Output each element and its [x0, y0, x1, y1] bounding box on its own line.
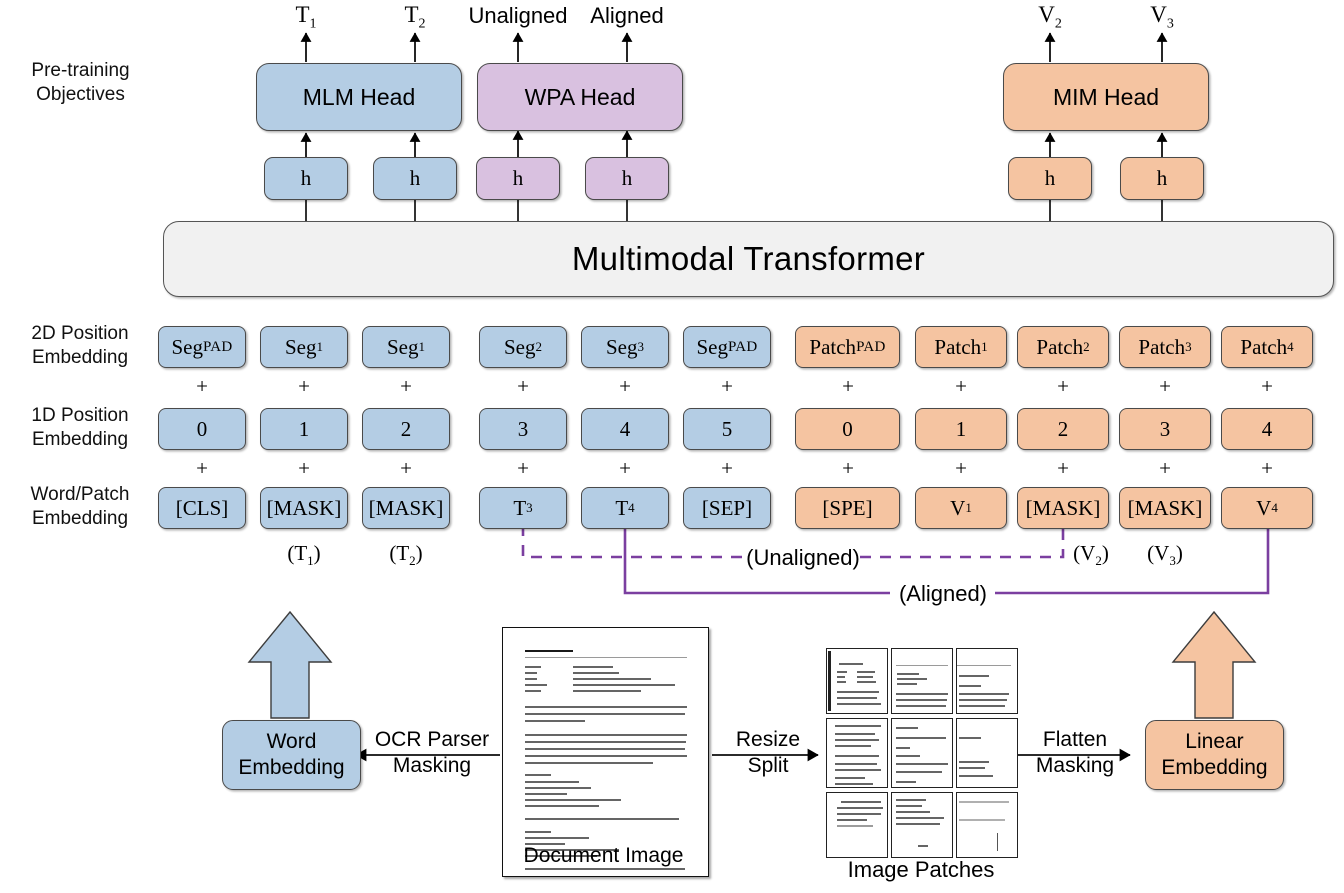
pos1d-embedding-10[interactable]: 4 — [1221, 408, 1313, 450]
image-patch-6[interactable] — [826, 792, 888, 858]
token-embedding-9[interactable]: [MASK] — [1119, 487, 1211, 529]
seg-embedding-4[interactable]: Seg3 — [581, 326, 669, 368]
image-patch-4[interactable] — [891, 718, 953, 788]
pos1d-embedding-7[interactable]: 1 — [915, 408, 1007, 450]
token-embedding-1[interactable]: [MASK] — [260, 487, 348, 529]
plus-2-5: + — [712, 456, 742, 481]
plus-2-0: + — [187, 456, 217, 481]
token-embedding-8[interactable]: [MASK] — [1017, 487, 1109, 529]
hidden-state-h-1[interactable]: h — [264, 157, 348, 200]
linear-embedding-box[interactable]: Linear Embedding — [1145, 720, 1284, 790]
plus-2-7: + — [946, 456, 976, 481]
patch-embedding-2[interactable]: Patch2 — [1017, 326, 1109, 368]
multimodal-transformer[interactable]: Multimodal Transformer — [163, 221, 1334, 297]
plus-2-1: + — [289, 456, 319, 481]
pos1d-embedding-9[interactable]: 3 — [1119, 408, 1211, 450]
pos1d-embedding-8[interactable]: 2 — [1017, 408, 1109, 450]
plus-1-7: + — [946, 374, 976, 399]
token-embedding-3[interactable]: T3 — [479, 487, 567, 529]
document-image[interactable]: Document Image — [502, 627, 709, 877]
mlm-head[interactable]: MLM Head — [256, 63, 462, 131]
pos1d-embedding-3[interactable]: 3 — [479, 408, 567, 450]
plus-1-0: + — [187, 374, 217, 399]
plus-2-3: + — [508, 456, 538, 481]
image-patch-7[interactable] — [891, 792, 953, 858]
ocr-parser-masking-label: OCR Parser Masking — [368, 727, 496, 779]
pos1d-embedding-1[interactable]: 1 — [260, 408, 348, 450]
token-embedding-7[interactable]: V1 — [915, 487, 1007, 529]
token-embedding-6[interactable]: [SPE] — [795, 487, 900, 529]
hidden-state-h-3[interactable]: h — [476, 157, 560, 200]
plus-1-9: + — [1150, 374, 1180, 399]
plus-2-2: + — [391, 456, 421, 481]
document-image-caption: Document Image — [503, 844, 704, 868]
output-aligned: Aligned — [567, 3, 687, 29]
figure-canvas: Pre-training Objectives 2D Position Embe… — [0, 0, 1344, 893]
word-embedding-box[interactable]: Word Embedding — [222, 720, 361, 790]
pos1d-embedding-0[interactable]: 0 — [158, 408, 246, 450]
seg-embedding-1[interactable]: Seg1 — [260, 326, 348, 368]
plus-1-2: + — [391, 374, 421, 399]
image-patches-caption: Image Patches — [826, 857, 1016, 883]
plus-2-6: + — [833, 456, 863, 481]
plus-2-8: + — [1048, 456, 1078, 481]
masked-note-t2: (T2) — [376, 541, 436, 569]
pos1d-embedding-5[interactable]: 5 — [683, 408, 771, 450]
output-v3-text: V — [1150, 2, 1167, 27]
row-label-1d-position: 1D Position Embedding — [6, 404, 154, 452]
masked-note-v2: (V2) — [1061, 541, 1121, 569]
pos1d-embedding-2[interactable]: 2 — [362, 408, 450, 450]
linear-embedding-up-arrow — [1173, 612, 1255, 718]
row-label-objectives: Pre-training Objectives — [8, 59, 153, 107]
token-embedding-10[interactable]: V4 — [1221, 487, 1313, 529]
output-t1: T1 — [276, 2, 336, 33]
image-patch-1[interactable] — [891, 648, 953, 714]
patch-embedding-1[interactable]: Patch1 — [915, 326, 1007, 368]
plus-1-4: + — [610, 374, 640, 399]
image-patch-3[interactable] — [826, 718, 888, 788]
output-t2-text: T — [404, 2, 418, 27]
patch-embedding-4[interactable]: Patch4 — [1221, 326, 1313, 368]
token-embedding-5[interactable]: [SEP] — [683, 487, 771, 529]
plus-2-4: + — [610, 456, 640, 481]
output-v2: V2 — [1020, 2, 1080, 33]
document-image-content — [503, 628, 708, 876]
token-embedding-4[interactable]: T4 — [581, 487, 669, 529]
aligned-connector-label: (Aligned) — [890, 581, 996, 607]
plus-1-8: + — [1048, 374, 1078, 399]
hidden-state-h-2[interactable]: h — [373, 157, 457, 200]
seg-embedding-0[interactable]: SegPAD — [158, 326, 246, 368]
image-patch-8[interactable] — [956, 792, 1018, 858]
hidden-state-h-5[interactable]: h — [1008, 157, 1092, 200]
plus-1-6: + — [833, 374, 863, 399]
seg-embedding-2[interactable]: Seg1 — [362, 326, 450, 368]
output-t1-sub: 1 — [310, 17, 317, 32]
pos1d-embedding-6[interactable]: 0 — [795, 408, 900, 450]
pos1d-embedding-4[interactable]: 4 — [581, 408, 669, 450]
image-patch-2[interactable] — [956, 648, 1018, 714]
word-embedding-up-arrow — [249, 612, 331, 718]
output-t2: T2 — [385, 2, 445, 33]
plus-1-10: + — [1252, 374, 1282, 399]
mim-head[interactable]: MIM Head — [1003, 63, 1209, 131]
image-patch-0[interactable] — [826, 648, 888, 714]
row-label-2d-position: 2D Position Embedding — [6, 322, 154, 370]
hidden-to-head-arrows — [306, 131, 1162, 157]
flatten-masking-label: Flatten Masking — [1020, 727, 1130, 779]
patch-embedding-0[interactable]: PatchPAD — [795, 326, 900, 368]
patch-embedding-3[interactable]: Patch3 — [1119, 326, 1211, 368]
output-v3-sub: 3 — [1167, 17, 1174, 32]
head-output-arrows — [306, 33, 1162, 62]
output-v3: V3 — [1132, 2, 1192, 33]
seg-embedding-3[interactable]: Seg2 — [479, 326, 567, 368]
output-t2-sub: 2 — [419, 17, 426, 32]
token-embedding-2[interactable]: [MASK] — [362, 487, 450, 529]
plus-1-1: + — [289, 374, 319, 399]
plus-2-10: + — [1252, 456, 1282, 481]
image-patch-5[interactable] — [956, 718, 1018, 788]
masked-note-t1: (T1) — [274, 541, 334, 569]
output-t1-text: T — [295, 2, 309, 27]
masked-note-v3: (V3) — [1135, 541, 1195, 569]
plus-1-3: + — [508, 374, 538, 399]
transformer-to-hidden-lines — [306, 199, 1162, 221]
row-label-word-patch: Word/Patch Embedding — [6, 483, 154, 531]
unaligned-connector-label: (Unaligned) — [745, 545, 861, 571]
output-v2-text: V — [1038, 2, 1055, 27]
token-embedding-0[interactable]: [CLS] — [158, 487, 246, 529]
hidden-state-h-4[interactable]: h — [585, 157, 669, 200]
hidden-state-h-6[interactable]: h — [1120, 157, 1204, 200]
resize-split-label: Resize Split — [722, 727, 814, 779]
plus-2-9: + — [1150, 456, 1180, 481]
plus-1-5: + — [712, 374, 742, 399]
seg-embedding-5[interactable]: SegPAD — [683, 326, 771, 368]
output-v2-sub: 2 — [1055, 17, 1062, 32]
image-patches-grid[interactable] — [826, 648, 1016, 856]
wpa-head[interactable]: WPA Head — [477, 63, 683, 131]
